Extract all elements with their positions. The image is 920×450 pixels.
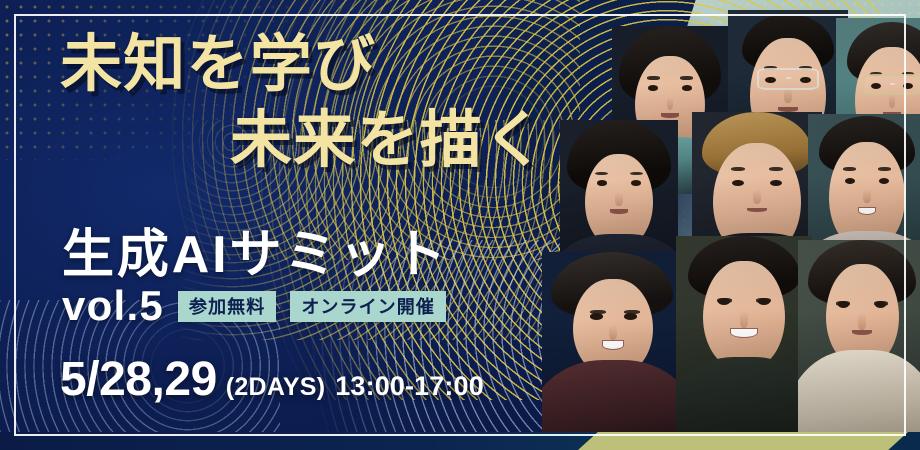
headline: 未知を学び 未来を描く bbox=[0, 34, 620, 172]
speaker-photo-7 bbox=[542, 252, 684, 444]
headline-line-1: 未知を学び bbox=[0, 34, 620, 96]
event-date-row: 5/28,29 (2DAYS) 13:00-17:00 bbox=[60, 352, 484, 407]
event-date: 5/28,29 bbox=[60, 352, 217, 407]
speaker-photo-8 bbox=[676, 236, 812, 444]
volume-label: vol.5 bbox=[62, 282, 164, 330]
headline-line-2: 未来を描く bbox=[0, 110, 620, 172]
status-badge-online: オンライン開催 bbox=[290, 291, 446, 322]
event-duration: (2DAYS) bbox=[226, 373, 325, 402]
event-banner: 未知を学び 未来を描く 生成AIサミット vol.5 参加無料 オンライン開催 … bbox=[0, 0, 920, 450]
volume-and-badges-row: vol.5 参加無料 オンライン開催 bbox=[62, 282, 446, 330]
olive-diagonal-bar bbox=[578, 432, 908, 450]
event-time: 13:00-17:00 bbox=[335, 371, 484, 402]
speaker-photo-9 bbox=[798, 240, 920, 444]
status-badge-free: 参加無料 bbox=[178, 291, 276, 322]
page-title: 生成AIサミット bbox=[62, 212, 449, 287]
